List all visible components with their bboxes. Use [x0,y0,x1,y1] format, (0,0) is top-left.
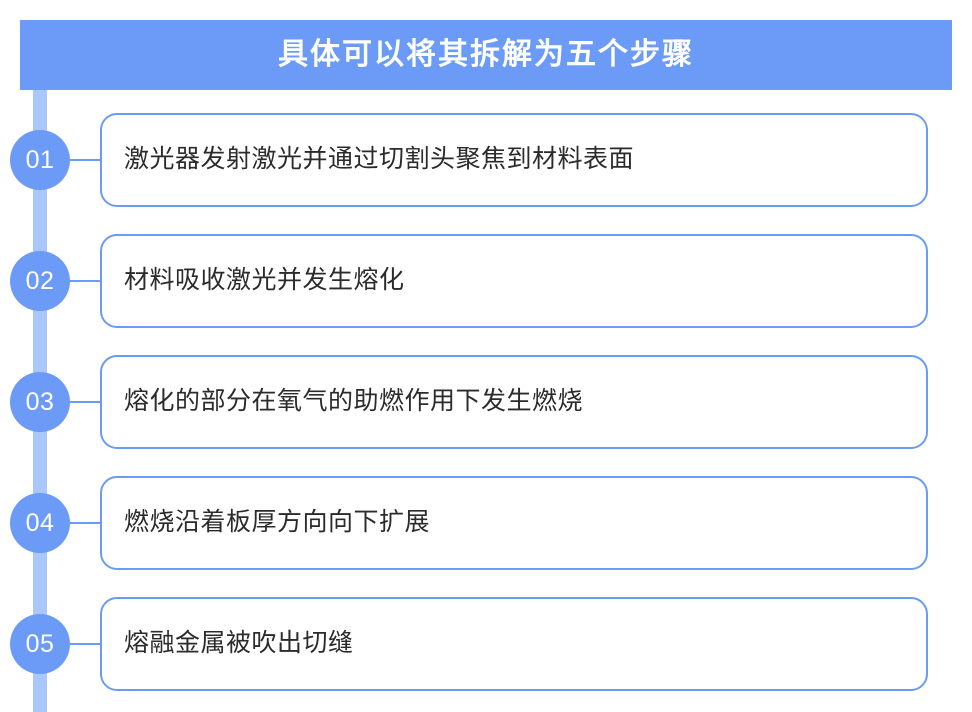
step-text: 燃烧沿着板厚方向向下扩展 [102,507,430,538]
step-text: 激光器发射激光并通过切割头聚焦到材料表面 [102,144,634,175]
step-number-label: 01 [26,148,55,173]
step-connector-line [68,401,102,403]
step-number-label: 04 [26,511,55,536]
step-card[interactable]: 熔融金属被吹出切缝 [100,597,928,691]
step-card[interactable]: 燃烧沿着板厚方向向下扩展 [100,476,928,570]
step-connector-line [68,159,102,161]
step-number-badge[interactable]: 04 [10,493,70,553]
step-card[interactable]: 熔化的部分在氧气的助燃作用下发生燃烧 [100,355,928,449]
step-row: 05 熔融金属被吹出切缝 [0,597,972,691]
step-connector-line [68,280,102,282]
step-number-badge[interactable]: 01 [10,130,70,190]
step-number-label: 03 [26,390,55,415]
step-number-badge[interactable]: 05 [10,614,70,674]
step-row: 04 燃烧沿着板厚方向向下扩展 [0,476,972,570]
step-text: 材料吸收激光并发生熔化 [102,265,405,296]
steps-list: 01 激光器发射激光并通过切割头聚焦到材料表面 02 材料吸收激光并发生熔化 0… [0,0,972,712]
step-card[interactable]: 激光器发射激光并通过切割头聚焦到材料表面 [100,113,928,207]
step-text: 熔化的部分在氧气的助燃作用下发生燃烧 [102,386,583,417]
step-row: 03 熔化的部分在氧气的助燃作用下发生燃烧 [0,355,972,449]
step-card[interactable]: 材料吸收激光并发生熔化 [100,234,928,328]
step-connector-line [68,522,102,524]
step-row: 02 材料吸收激光并发生熔化 [0,234,972,328]
step-number-badge[interactable]: 03 [10,372,70,432]
step-number-label: 05 [26,632,55,657]
step-row: 01 激光器发射激光并通过切割头聚焦到材料表面 [0,113,972,207]
step-number-badge[interactable]: 02 [10,251,70,311]
step-number-label: 02 [26,269,55,294]
step-infographic: 具体可以将其拆解为五个步骤 01 激光器发射激光并通过切割头聚焦到材料表面 02… [0,0,972,712]
step-connector-line [68,643,102,645]
step-text: 熔融金属被吹出切缝 [102,628,354,659]
